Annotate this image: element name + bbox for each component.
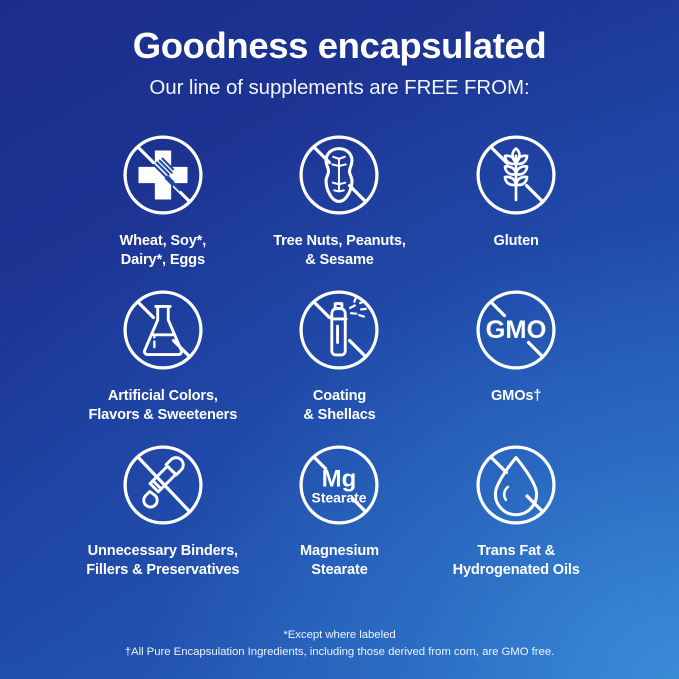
no-magnesium-stearate-icon: Mg Stearate [291,437,387,533]
grid-item-coating: Coating & Shellacs [251,282,428,437]
no-dropper-icon [115,437,211,533]
page-title: Goodness encapsulated [0,27,679,65]
grid-item-label: Artificial Colors, Flavors & Sweeteners [88,387,237,424]
no-cross-fork-icon [115,127,211,223]
stearate-icon-subtext: Stearate [312,490,367,506]
grid-item-label: Magnesium Stearate [300,542,379,579]
header: Goodness encapsulated Our line of supple… [0,0,679,100]
page-subtitle: Our line of supplements are FREE FROM: [0,76,679,100]
grid-item-binders: Unnecessary Binders, Fillers & Preservat… [75,437,252,592]
no-spray-can-icon [291,282,387,378]
no-wheat-stalk-icon [468,127,564,223]
no-flask-icon [115,282,211,378]
grid-item-artificial-colors: Artificial Colors, Flavors & Sweeteners [75,282,252,437]
footnote-dagger: †All Pure Encapsulation Ingredients, inc… [0,644,679,662]
grid-item-label: Wheat, Soy*, Dairy*, Eggs [120,232,207,269]
grid-item-magnesium-stearate: Mg Stearate Magnesium Stearate [251,437,428,592]
grid-item-gmo: GMO GMOs† [428,282,605,437]
grid-item-label: GMOs† [491,387,541,406]
no-gmo-icon: GMO [468,282,564,378]
footnotes: *Except where labeled †All Pure Encapsul… [0,627,679,662]
grid-item-nuts: Tree Nuts, Peanuts, & Sesame [251,127,428,282]
grid-item-allergens: Wheat, Soy*, Dairy*, Eggs [75,127,252,282]
grid-item-trans-fat: Trans Fat & Hydrogenated Oils [428,437,605,592]
grid-item-label: Coating & Shellacs [303,387,375,424]
free-from-grid: Wheat, Soy*, Dairy*, Eggs [75,127,605,592]
supplement-free-from-infographic: Goodness encapsulated Our line of supple… [0,0,679,679]
grid-item-label: Gluten [494,232,539,251]
grid-item-gluten: Gluten [428,127,605,282]
gmo-icon-text: GMO [486,316,547,344]
no-oil-droplet-icon [468,437,564,533]
grid-item-label: Tree Nuts, Peanuts, & Sesame [273,232,406,269]
no-peanut-icon [291,127,387,223]
grid-item-label: Unnecessary Binders, Fillers & Preservat… [86,542,239,579]
grid-item-label: Trans Fat & Hydrogenated Oils [453,542,580,579]
footnote-asterisk: *Except where labeled [0,627,679,645]
